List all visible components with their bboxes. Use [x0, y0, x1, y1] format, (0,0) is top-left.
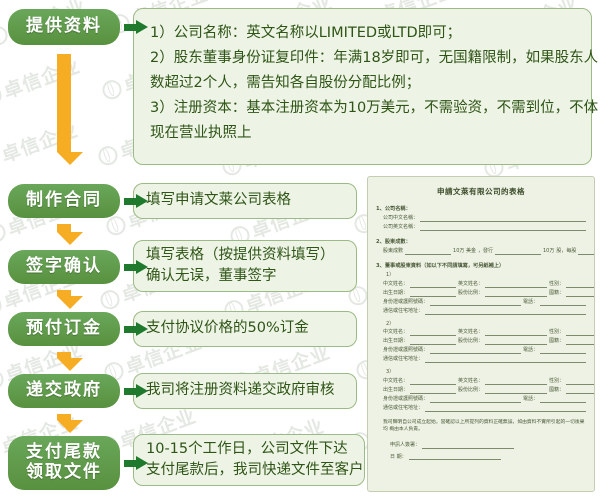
form-field-label: 通信或住宅地址： — [383, 308, 423, 315]
detail-line: 填写表格（按提供资料填写） — [146, 245, 344, 266]
detail-line: 支付协议价格的50%订金 — [146, 318, 344, 339]
form-declaration: 我司聲明自公司成立起始，當確認以上所提列的資料正確無誤，如由資料不實所引起的一切… — [376, 419, 586, 433]
form-field-rule — [540, 348, 586, 354]
form-date-label: 日 期： — [390, 454, 407, 461]
form-field-rule — [420, 225, 586, 231]
form-field-rule — [485, 291, 547, 297]
form-body: 1、公司名稱： 公司中文名稱： 公司英文名稱： 2、股東成數： 股東成數 10万… — [368, 197, 594, 460]
form-field-rule — [410, 339, 456, 345]
globe-icon — [0, 148, 2, 172]
form-field-label: 國籍： — [549, 338, 564, 345]
form-field-sep-1: ，發行 — [478, 248, 493, 255]
form-field-rule — [540, 300, 586, 306]
form-field-rule — [485, 379, 547, 385]
form-group-number: 1） — [376, 272, 586, 279]
form-field-label: 性別： — [549, 378, 564, 385]
step-chip-sign-confirm[interactable]: 签字确认 — [8, 250, 120, 284]
form-field-label: 通信或住宅地址： — [383, 356, 423, 363]
form-group-number: 2） — [376, 321, 586, 328]
form-field-rule — [566, 291, 595, 297]
form-field-label: 股份比例： — [458, 290, 483, 297]
form-section-no: 3、 — [376, 263, 385, 269]
globe-icon — [0, 84, 4, 108]
form-field-rule — [410, 379, 456, 385]
form-group-number: 3） — [376, 369, 586, 376]
globe-icon — [0, 368, 6, 392]
globe-icon — [0, 440, 2, 464]
form-field-row: 身份證或護照號碼： 電話： — [376, 396, 586, 403]
form-field-rule — [410, 282, 456, 288]
form-field-label: 股東成數 — [383, 248, 403, 255]
form-field-rule — [485, 282, 547, 288]
form-field-rule — [578, 249, 595, 255]
form-field-row: 中文姓名： 英文姓名： 性別： — [376, 329, 586, 336]
form-section-no: 1、 — [376, 206, 385, 212]
flow-arrow-down-3 — [57, 290, 71, 309]
form-field-row: 出生日期： 股份比例： 國籍： — [376, 290, 586, 297]
form-field-rule — [566, 388, 595, 394]
detail-box-final-payment: 10-15个工作日，公司文件下达 支付尾款后，我司快递文件至客户 — [133, 434, 365, 486]
globe-icon — [96, 144, 120, 168]
form-field-row: 身份證或護照號碼： 電話： — [376, 347, 586, 354]
form-signature-label: 申訊人簽署： — [390, 442, 420, 449]
form-field-rule — [409, 454, 501, 460]
form-field-label: 通信或住宅地址： — [383, 405, 423, 412]
form-field-label: 英文姓名： — [458, 329, 483, 336]
form-section-heading: 董事或股東資料（如以下不同請填寫，可另紙補上） — [385, 263, 504, 269]
form-field-value-2: 10万 — [543, 248, 554, 255]
form-section-heading: 股東成數： — [385, 239, 411, 245]
form-field-rule — [485, 330, 547, 336]
form-capital-row: 股東成數 10万 美金 ，發行 10万 股，每股 1 美金 — [376, 248, 586, 255]
detail-line: 确认无误，董事签字 — [146, 266, 344, 287]
form-field-label: 出生日期： — [383, 387, 408, 394]
detail-box-make-contract: 填写申请文莱公司表格 — [133, 183, 357, 219]
form-field-label: 中文姓名： — [383, 329, 408, 336]
step-chip-label-line2: 领取文件 — [26, 463, 102, 483]
form-section-3: 3、董事或股東資料（如以下不同請填寫，可另紙補上） — [376, 263, 586, 270]
form-field-rule — [430, 348, 521, 354]
form-group-label: 3） — [386, 369, 394, 376]
form-field-rule — [410, 291, 456, 297]
form-group-label: 1） — [386, 272, 394, 279]
form-field-rule — [425, 357, 586, 363]
globe-icon — [0, 294, 4, 318]
form-field-label: 出生日期： — [383, 338, 408, 345]
form-field-label: 電話： — [523, 347, 538, 354]
globe-icon — [100, 78, 124, 102]
globe-icon — [0, 221, 8, 245]
form-section-no: 2、 — [376, 239, 385, 245]
form-field-label: 電話： — [523, 396, 538, 403]
form-field-label: 國籍： — [549, 387, 564, 394]
step-chip-label: 预付订金 — [26, 319, 102, 339]
form-field-label: 國籍： — [549, 290, 564, 297]
detail-box-provide-materials: 1）公司名称：英文名称以LIMITED或LTD即可； 2）股东董事身份证复印件：… — [133, 8, 592, 165]
form-field-row: 通信或住宅地址： — [376, 308, 586, 315]
detail-line: 1）公司名称：英文名称以LIMITED或LTD即可； — [150, 21, 577, 46]
detail-line: 现在营业执照上 — [150, 121, 577, 146]
flow-arrow-down-4 — [57, 352, 71, 371]
form-field-rule — [485, 339, 547, 345]
form-field-rule — [425, 406, 586, 412]
detail-box-sign-confirm: 填写表格（按提供资料填写） 确认无误，董事签字 — [133, 240, 357, 292]
form-group-label: 2） — [386, 321, 394, 328]
globe-icon — [98, 288, 122, 312]
form-title: 申請文萊有限公司的表格 — [368, 186, 594, 197]
form-signature-row: 申訊人簽署： — [376, 442, 586, 449]
detail-line: 支付尾款后，我司快递文件至客户 — [146, 460, 352, 481]
detail-box-submit-government: 我司将注册资料递交政府审核 — [133, 373, 357, 409]
flow-arrow-right-5 — [124, 384, 148, 398]
form-field-rule — [405, 249, 451, 255]
flow-arrow-right-3 — [124, 260, 148, 274]
form-field-rule — [420, 216, 586, 222]
form-field-rule — [566, 330, 595, 336]
form-field-row: 通信或住宅地址： — [376, 405, 586, 412]
detail-box-prepay-deposit: 支付协议价格的50%订金 — [133, 311, 357, 347]
detail-line: 2）股东董事身份证复印件：年满18岁即可，无国籍限制，如果股东人 — [150, 46, 577, 71]
detail-line: 填写申请文莱公司表格 — [146, 190, 344, 211]
form-field-rule — [485, 388, 547, 394]
step-chip-prepay-deposit[interactable]: 预付订金 — [8, 312, 120, 346]
step-chip-label: 递交政府 — [26, 381, 102, 401]
step-chip-make-contract[interactable]: 制作合同 — [8, 184, 120, 218]
step-chip-provide-materials[interactable]: 提供资料 — [8, 9, 120, 45]
detail-line: 10-15个工作日，公司文件下达 — [146, 439, 352, 460]
form-field-label: 英文姓名： — [458, 378, 483, 385]
form-section-heading: 公司名稱： — [385, 206, 411, 212]
form-field-label: 公司中文名稱： — [383, 215, 418, 222]
flow-arrow-down-2 — [57, 224, 71, 245]
form-field-row: 公司英文名稱： — [376, 224, 586, 231]
form-field-label: 身份證或護照號碼： — [383, 347, 428, 354]
form-field-sep-2: 股，每股 — [556, 248, 576, 255]
step-chip-label: 签字确认 — [26, 257, 102, 277]
form-field-rule — [430, 397, 521, 403]
detail-line: 3）注册资本：基本注册资本为10万美元，不需验资，不需到位，不体 — [150, 96, 577, 121]
step-chip-label: 支付尾款 — [26, 443, 102, 463]
flow-arrow-right-2 — [124, 194, 148, 208]
step-chip-label: 制作合同 — [26, 191, 102, 211]
form-field-label: 電話： — [523, 299, 538, 306]
form-field-row: 中文姓名： 英文姓名： 性別： — [376, 378, 586, 385]
form-field-label: 出生日期： — [383, 290, 408, 297]
form-field-label: 性別： — [549, 281, 564, 288]
form-section-1: 1、公司名稱： — [376, 206, 586, 213]
form-field-rule — [422, 443, 514, 449]
form-field-row: 中文姓名： 英文姓名： 性別： — [376, 281, 586, 288]
flow-arrow-down-1 — [57, 54, 71, 165]
flow-arrow-down-5 — [57, 414, 71, 433]
step-chip-final-payment[interactable]: 支付尾款 领取文件 — [8, 436, 120, 490]
form-field-rule — [430, 300, 521, 306]
form-field-value-1: 10万 美金 — [453, 248, 476, 255]
detail-line: 数超过2个人，需告知各自股份分配比例； — [150, 71, 577, 96]
form-field-label: 性別： — [549, 329, 564, 336]
form-field-label: 股份比例： — [458, 387, 483, 394]
flow-arrow-right-6 — [124, 456, 148, 470]
form-field-rule — [410, 388, 456, 394]
form-field-label: 中文姓名： — [383, 281, 408, 288]
form-field-row: 通信或住宅地址： — [376, 356, 586, 363]
detail-line: 我司将注册资料递交政府审核 — [146, 380, 344, 401]
form-date-row: 日 期： — [376, 454, 586, 461]
form-field-row: 出生日期： 股份比例： 國籍： — [376, 338, 586, 345]
application-form-image: 申請文萊有限公司的表格 1、公司名稱： 公司中文名稱： 公司英文名稱： 2、股東… — [367, 176, 595, 492]
form-field-rule — [425, 309, 586, 315]
form-field-rule — [566, 282, 595, 288]
form-field-rule — [410, 330, 456, 336]
form-field-rule — [540, 397, 586, 403]
watermark: 卓信企业 — [0, 51, 84, 111]
flow-arrow-right-1 — [124, 20, 148, 34]
form-field-label: 股份比例： — [458, 338, 483, 345]
form-field-row: 身份證或護照號碼： 電話： — [376, 299, 586, 306]
step-chip-label: 提供资料 — [26, 17, 102, 37]
form-field-label: 英文姓名： — [458, 281, 483, 288]
form-field-label: 身份證或護照號碼： — [383, 299, 428, 306]
form-field-label: 公司英文名稱： — [383, 224, 418, 231]
flowchart-canvas: 卓信企业 卓信企业 卓信企业 卓信企业 卓信企业 卓信企业 卓信企业 卓信企业 … — [0, 0, 600, 499]
step-chip-submit-government[interactable]: 递交政府 — [8, 374, 120, 408]
form-section-2: 2、股東成數： — [376, 239, 586, 246]
form-field-label: 身份證或護照號碼： — [383, 396, 428, 403]
form-field-row: 出生日期： 股份比例： 國籍： — [376, 387, 586, 394]
flow-arrow-right-4 — [124, 322, 148, 336]
form-field-rule — [495, 249, 541, 255]
form-field-label: 中文姓名： — [383, 378, 408, 385]
form-field-row: 公司中文名稱： — [376, 215, 586, 222]
form-field-rule — [566, 339, 595, 345]
form-field-rule — [566, 379, 595, 385]
